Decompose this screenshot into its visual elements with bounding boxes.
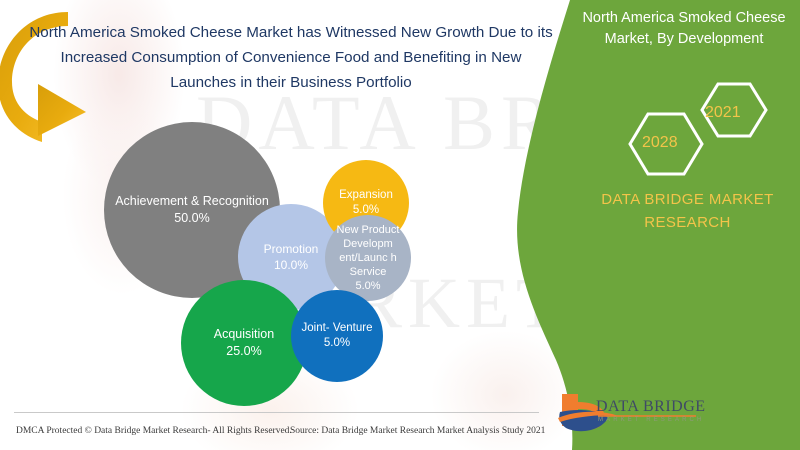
bubble-new-product-development[interactable]: New Product Developm ent/Launc h Service… xyxy=(325,215,411,301)
footer-copyright: DMCA Protected © Data Bridge Market Rese… xyxy=(16,426,292,436)
bubble-joint-venture[interactable]: Joint- Venture 5.0% xyxy=(291,290,383,382)
panel-brand-name: DATA BRIDGE MARKET RESEARCH xyxy=(590,188,785,234)
bubble-value: 5.0% xyxy=(324,337,350,349)
bubble-label: Acquisition xyxy=(214,327,274,341)
footer-source: Source: Data Bridge Market Research Mark… xyxy=(290,426,545,436)
hexagon-year-group: 2021 2028 xyxy=(610,80,780,180)
infographic-slide: DATA BRIDGE MARKET RESEARCH North Americ… xyxy=(0,0,800,450)
logo-name: DATA BRIDGE xyxy=(596,398,706,416)
bubble-value: 25.0% xyxy=(226,344,261,358)
hexagon-label-2028: 2028 xyxy=(642,134,678,152)
logo-subtitle: MARKET RESEARCH xyxy=(598,417,704,423)
bubble-label: Expansion xyxy=(339,189,393,201)
bubble-value: 50.0% xyxy=(174,211,209,225)
bubble-label: Joint- Venture xyxy=(302,322,373,334)
panel-title: North America Smoked Cheese Market, By D… xyxy=(578,8,790,50)
bubble-label: Achievement & Recognition xyxy=(115,194,269,208)
hexagon-label-2021: 2021 xyxy=(705,104,741,122)
bubble-label: Promotion xyxy=(264,242,319,256)
footer-divider xyxy=(14,412,539,413)
bubble-value: 5.0% xyxy=(355,280,380,292)
bubble-value: 10.0% xyxy=(274,258,308,272)
bubble-acquisition[interactable]: Acquisition 25.0% xyxy=(181,280,307,406)
logo: DATA BRIDGE MARKET RESEARCH xyxy=(556,392,706,436)
bubble-label: New Product Developm ent/Launc h Service xyxy=(337,224,400,278)
